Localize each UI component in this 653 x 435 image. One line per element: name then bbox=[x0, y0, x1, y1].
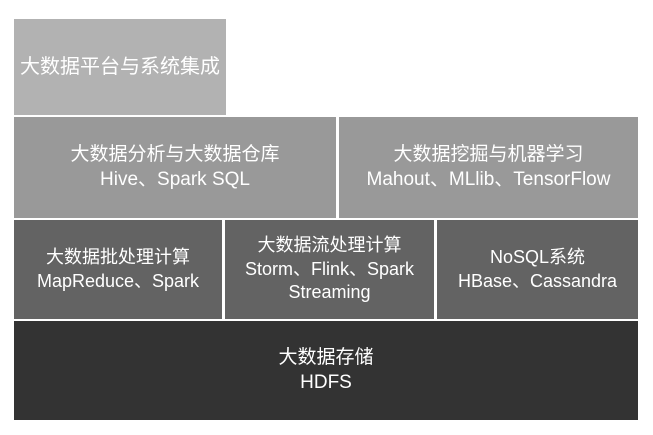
box-stream-compute: 大数据流处理计算 Storm、Flink、Spark Streaming bbox=[225, 220, 434, 319]
box-analysis-warehouse: 大数据分析与大数据仓库 Hive、Spark SQL bbox=[14, 117, 336, 218]
layer-platform: 大数据平台与系统集成 bbox=[14, 19, 638, 115]
box-stream-compute-line-1: 大数据流处理计算 bbox=[258, 234, 402, 257]
box-platform-integration-line-1: 大数据平台与系统集成 bbox=[20, 54, 220, 80]
box-platform-integration: 大数据平台与系统集成 bbox=[14, 19, 226, 115]
layer-analytics: 大数据分析与大数据仓库 Hive、Spark SQL 大数据挖掘与机器学习 Ma… bbox=[14, 117, 638, 218]
box-big-data-storage-line-2: HDFS bbox=[300, 371, 352, 396]
layer-storage: 大数据存储 HDFS bbox=[14, 321, 638, 420]
box-nosql-line-2: HBase、Cassandra bbox=[458, 270, 617, 293]
layer-compute: 大数据批处理计算 MapReduce、Spark 大数据流处理计算 Storm、… bbox=[14, 220, 638, 319]
big-data-architecture-diagram: 大数据平台与系统集成 大数据分析与大数据仓库 Hive、Spark SQL 大数… bbox=[14, 19, 638, 420]
box-mining-ml-line-2: Mahout、MLlib、TensorFlow bbox=[367, 168, 611, 193]
box-batch-compute-line-2: MapReduce、Spark bbox=[37, 270, 199, 293]
box-mining-ml: 大数据挖掘与机器学习 Mahout、MLlib、TensorFlow bbox=[339, 117, 638, 218]
box-mining-ml-line-1: 大数据挖掘与机器学习 bbox=[393, 143, 583, 168]
box-big-data-storage: 大数据存储 HDFS bbox=[14, 321, 638, 420]
box-batch-compute: 大数据批处理计算 MapReduce、Spark bbox=[14, 220, 222, 319]
box-analysis-warehouse-line-1: 大数据分析与大数据仓库 bbox=[70, 143, 279, 168]
box-batch-compute-line-1: 大数据批处理计算 bbox=[46, 246, 190, 269]
box-stream-compute-line-2: Storm、Flink、Spark bbox=[245, 258, 414, 281]
box-stream-compute-line-3: Streaming bbox=[288, 281, 370, 304]
box-nosql: NoSQL系统 HBase、Cassandra bbox=[437, 220, 638, 319]
box-analysis-warehouse-line-2: Hive、Spark SQL bbox=[100, 168, 250, 193]
box-nosql-line-1: NoSQL系统 bbox=[490, 246, 585, 269]
box-big-data-storage-line-1: 大数据存储 bbox=[278, 346, 373, 371]
